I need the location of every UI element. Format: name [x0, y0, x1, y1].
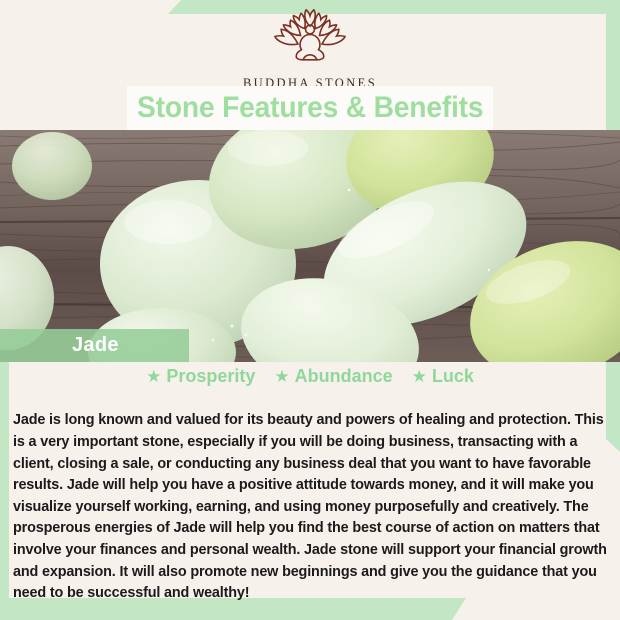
benefit-label: Prosperity	[166, 366, 255, 387]
stone-infographic-card: BUDDHA STONES Stone Features & Benefits	[0, 0, 620, 620]
stone-name-band: Jade	[0, 329, 189, 362]
benefit-item-luck: ★ Luck	[412, 366, 474, 387]
stone-photo: Jade	[0, 130, 620, 362]
star-icon: ★	[146, 368, 161, 385]
lotus-buddha-meditation-icon	[251, 8, 369, 75]
title-banner: Stone Features & Benefits	[127, 86, 493, 130]
benefits-list: ★ Prosperity ★ Abundance ★ Luck	[0, 366, 620, 387]
stone-description: Jade is long known and valued for its be…	[13, 410, 607, 604]
brand-header: BUDDHA STONES	[0, 0, 620, 92]
benefit-label: Luck	[432, 366, 474, 387]
star-icon: ★	[274, 368, 289, 385]
benefit-item-prosperity: ★ Prosperity	[146, 366, 255, 387]
benefit-item-abundance: ★ Abundance	[274, 366, 392, 387]
stone-name: Jade	[0, 334, 119, 357]
page-title: Stone Features & Benefits	[137, 91, 483, 125]
star-icon: ★	[412, 368, 427, 385]
benefit-label: Abundance	[295, 366, 393, 387]
